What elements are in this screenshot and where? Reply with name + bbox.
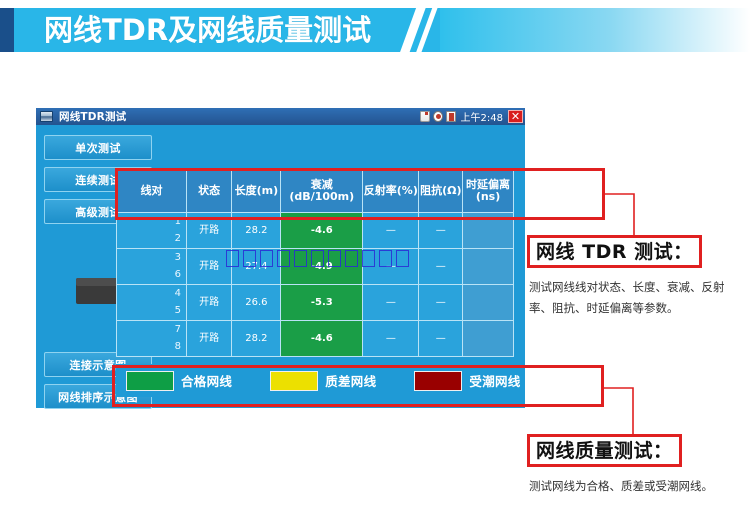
cell-length: 28.2	[232, 321, 281, 357]
clock-label: 上午2:48	[461, 109, 503, 124]
titlebar-status-area: 上午2:48 ✕	[420, 109, 525, 124]
pair-wire-b: 5	[175, 305, 181, 317]
sidebar-item-single-test[interactable]: 单次测试	[44, 135, 152, 160]
cell-pair: 3 6	[116, 249, 187, 285]
cell-attenuation: -5.3	[281, 285, 363, 321]
cell-impedance: —	[419, 249, 463, 285]
cell-length: 27.4	[232, 249, 281, 285]
cell-state: 开路	[187, 249, 232, 285]
cell-length: 26.6	[232, 285, 281, 321]
page-header-banner: 网线TDR及网线质量测试	[0, 8, 750, 52]
cell-reflection: —	[363, 285, 419, 321]
pair-wire-a: 7	[175, 324, 181, 336]
sd-card-icon	[420, 111, 430, 122]
device-screenshot: 网线TDR测试 上午2:48 ✕ 单次测试 连续测试 高级测试 连接示意图 网线…	[36, 108, 525, 408]
page-title: 网线TDR及网线质量测试	[44, 11, 371, 49]
app-title: 网线TDR测试	[59, 109, 126, 124]
cell-impedance: —	[419, 321, 463, 357]
cell-attenuation: -4.9	[281, 249, 363, 285]
pair-wire-a: 4	[175, 288, 181, 300]
cell-state: 开路	[187, 285, 232, 321]
pair-wire-b: 2	[175, 233, 181, 245]
cell-reflection: —	[363, 249, 419, 285]
cell-impedance: —	[419, 285, 463, 321]
header-left-edge	[0, 8, 14, 52]
cell-attenuation: -4.6	[281, 321, 363, 357]
cell-reflection: —	[363, 321, 419, 357]
cell-pair: 7 8	[116, 321, 187, 357]
callout-box-quality-legend	[112, 365, 604, 407]
callout-connector-quality	[603, 387, 663, 437]
pair-wire-b: 6	[175, 269, 181, 281]
pair-wire-a: 3	[175, 252, 181, 264]
network-cable-icon	[40, 111, 53, 122]
annotation-description-tdr: 测试网线线对状态、长度、衰减、反射率、阻抗、时延偏离等参数。	[529, 277, 741, 319]
cell-delay-skew	[463, 285, 514, 321]
cell-delay-skew	[463, 321, 514, 357]
annotation-title-quality: 网线质量测试：	[527, 434, 682, 467]
header-slash-decoration	[398, 8, 442, 52]
cell-pair: 4 5	[116, 285, 187, 321]
pair-wire-b: 8	[175, 341, 181, 353]
callout-box-tdr-table	[115, 168, 605, 220]
table-row[interactable]: 7 8 开路 28.2 -4.6 — —	[116, 321, 514, 357]
close-icon[interactable]: ✕	[508, 110, 523, 123]
table-row[interactable]: 3 6 开路 27.4 -4.9 — —	[116, 249, 514, 285]
annotation-description-quality: 测试网线为合格、质差或受潮网线。	[529, 476, 741, 497]
annotation-title-tdr: 网线 TDR 测试：	[527, 235, 702, 268]
app-titlebar: 网线TDR测试 上午2:48 ✕	[36, 108, 525, 125]
table-row[interactable]: 4 5 开路 26.6 -5.3 — —	[116, 285, 514, 321]
header-fade-tail	[440, 8, 750, 52]
settings-icon[interactable]	[433, 111, 443, 122]
battery-icon	[446, 111, 456, 122]
cell-delay-skew	[463, 249, 514, 285]
cell-state: 开路	[187, 321, 232, 357]
